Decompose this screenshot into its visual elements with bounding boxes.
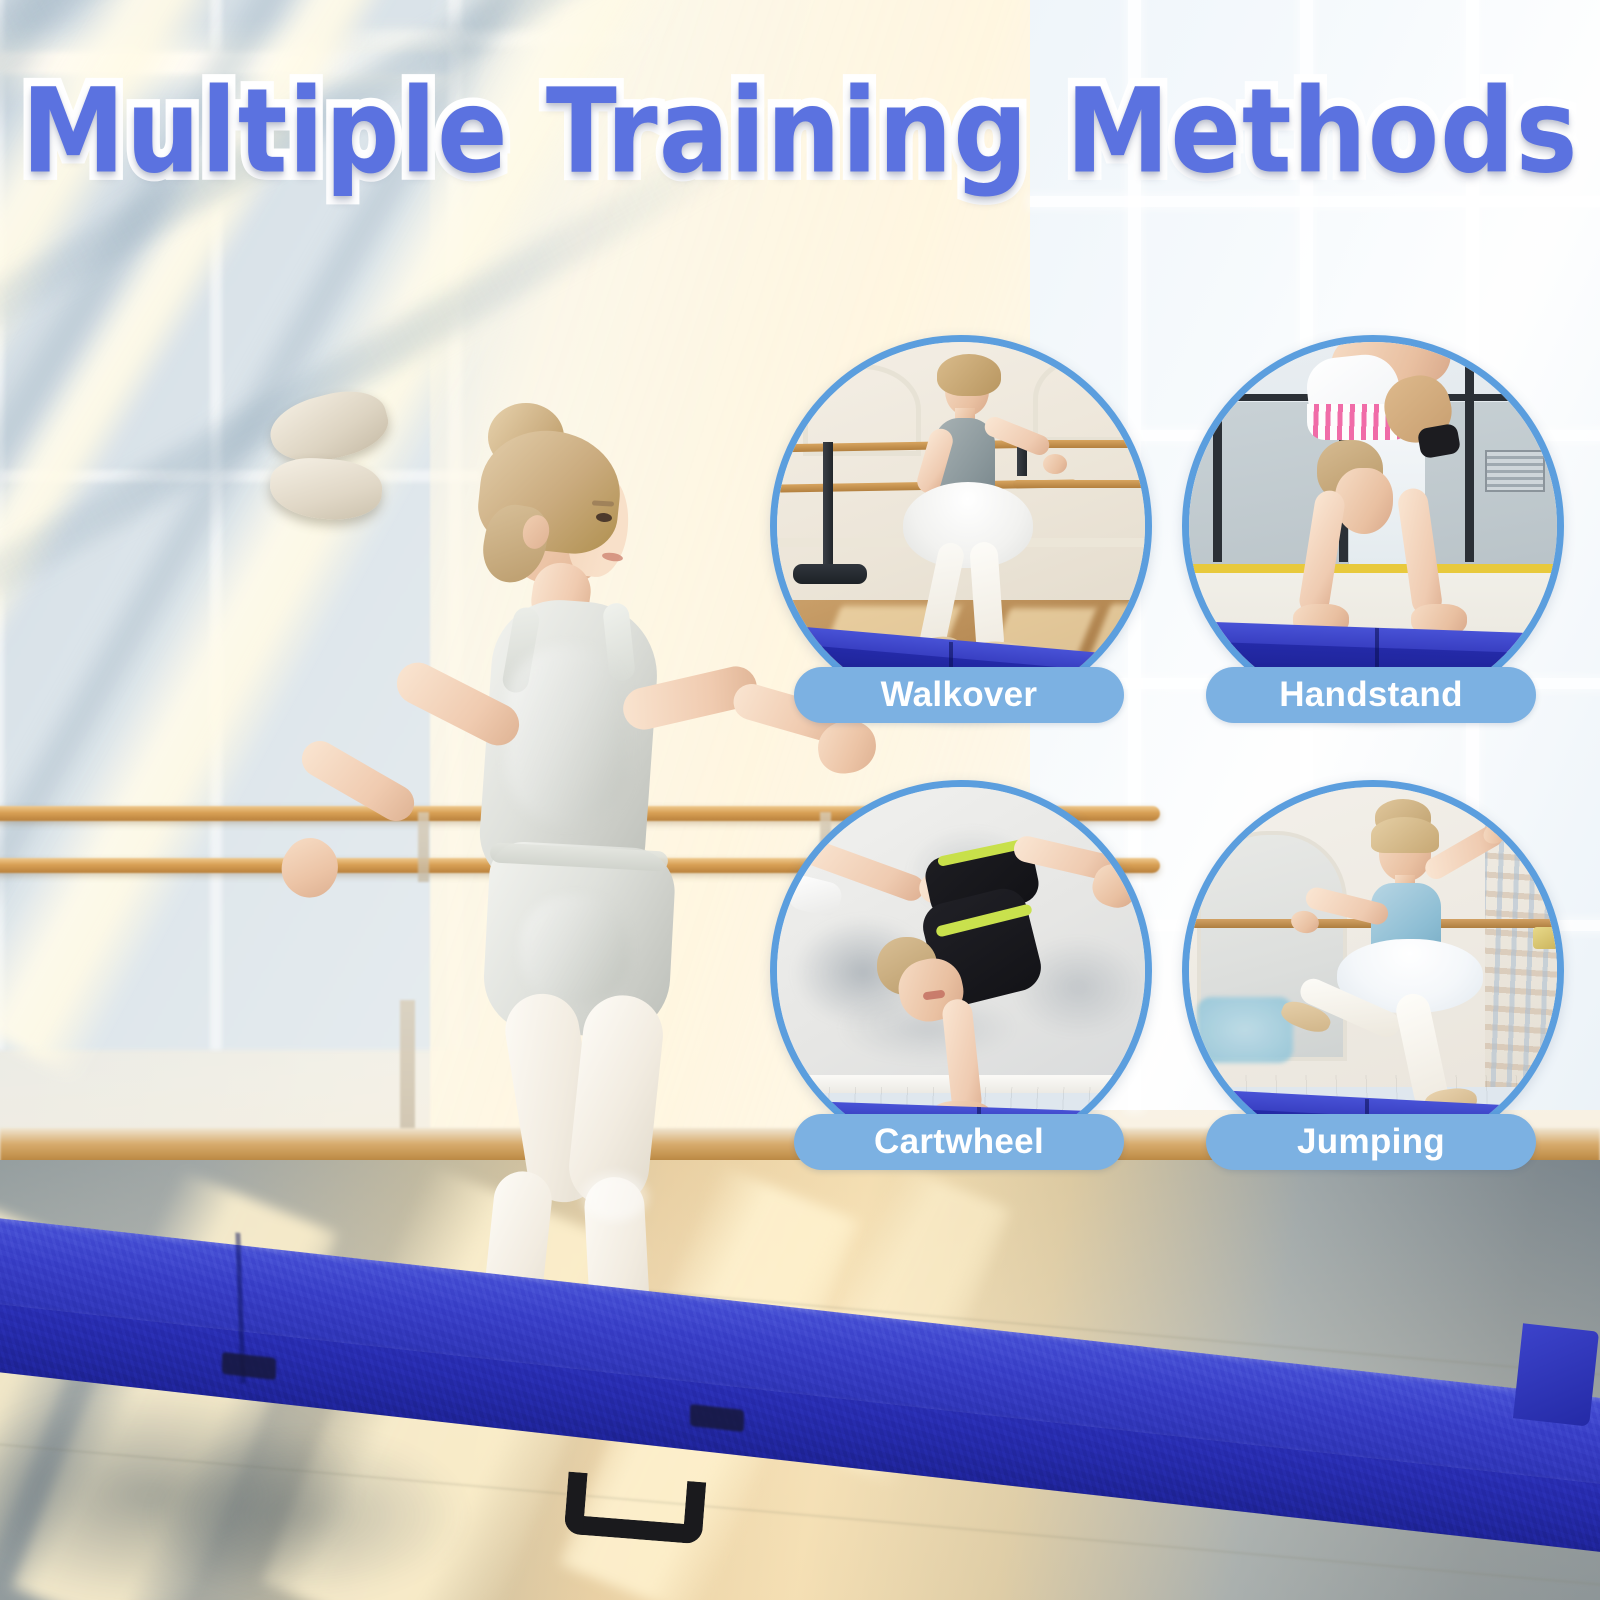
structural-column	[1213, 362, 1222, 562]
page-title: Multiple Training Methods	[22, 63, 1579, 200]
wall-vent	[1485, 450, 1545, 492]
wall-arch-molding	[1033, 356, 1137, 442]
product-marketing-banner: Multiple Training Methods	[0, 0, 1600, 1600]
photo-handstand	[1189, 342, 1557, 710]
photo-jumping	[1189, 787, 1557, 1155]
thumbnail-label-jumping: Jumping	[1206, 1114, 1536, 1170]
beam-end-cap	[1513, 1323, 1599, 1426]
barre-stand-pole	[823, 442, 833, 567]
thumbnail-card-jumping[interactable]: Jumping	[1180, 780, 1572, 1200]
leotard-highlight	[506, 645, 628, 825]
ballet-shoe	[268, 455, 384, 523]
tutu-skirt	[903, 482, 1033, 568]
left-hand	[270, 828, 349, 908]
banner-title-container: Multiple Training Methods	[0, 66, 1600, 196]
thumbnail-label-cartwheel: Cartwheel	[794, 1114, 1124, 1170]
floor-boundary-line	[1189, 564, 1557, 573]
thumbnail-card-handstand[interactable]: Handstand	[1180, 335, 1572, 755]
thumbnail-label-handstand: Handstand	[1206, 667, 1536, 723]
barre-bracket	[1533, 927, 1557, 949]
thumbnail-card-cartwheel[interactable]: Cartwheel	[768, 780, 1160, 1200]
knee-highlight	[582, 1173, 648, 1221]
balance-beam-product	[0, 1215, 1600, 1600]
hair	[937, 354, 1001, 396]
eyebrow	[592, 500, 614, 506]
thumbnail-circle-handstand	[1182, 335, 1564, 717]
shorts-highlight	[520, 895, 630, 1005]
thumbnail-card-walkover[interactable]: Walkover	[768, 335, 1160, 755]
thumbnail-circle-cartwheel	[770, 780, 1152, 1162]
mirror-reflection	[1197, 997, 1293, 1063]
barre-stand-base	[793, 564, 867, 584]
photo-walkover	[777, 342, 1145, 710]
structural-column	[1465, 356, 1474, 562]
hair	[1371, 817, 1439, 853]
right-hand	[1043, 454, 1067, 474]
thumbnail-circle-jumping	[1182, 780, 1564, 1162]
beam-carry-handle	[564, 1472, 706, 1545]
thumbnail-label-walkover: Walkover	[794, 667, 1124, 723]
training-methods-grid: Walkover	[768, 335, 1568, 1195]
ballet-barre	[1013, 480, 1145, 488]
left-forearm	[295, 734, 420, 827]
photo-cartwheel	[777, 787, 1145, 1155]
thumbnail-circle-walkover	[770, 335, 1152, 717]
